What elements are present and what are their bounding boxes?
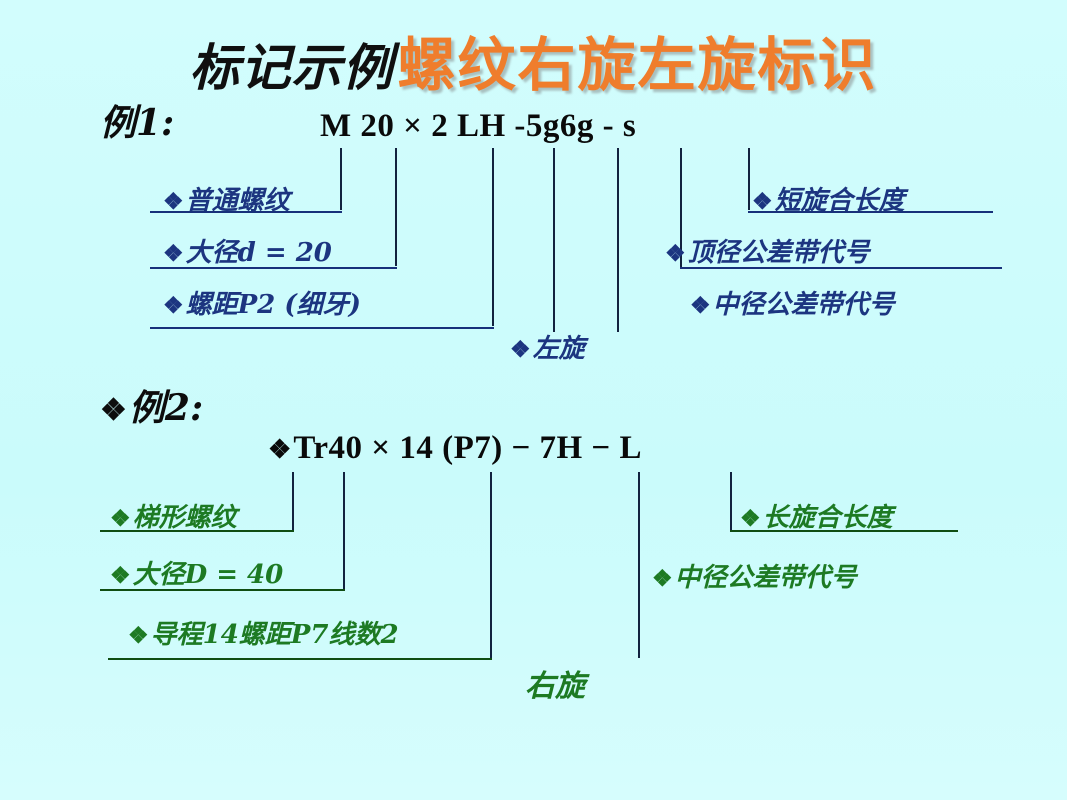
example1-designation: M 20 × 2 LH -5g6g - s — [320, 110, 636, 143]
slide-canvas: 标记示例螺纹右旋左旋标识 例1: M 20 × 2 LH -5g6g - s ❖… — [0, 0, 1067, 800]
leader-line-e2-3 — [490, 472, 492, 658]
leader-line-e2-2 — [343, 472, 345, 589]
slide-title: 标记示例螺纹右旋左旋标识 — [0, 18, 1067, 102]
annotation-e2-right-2: ❖中径公差带代号 — [652, 562, 887, 595]
leader-line-e1-7 — [748, 148, 750, 210]
annotation-e2-right-1: ❖长旋合长度 — [740, 505, 893, 531]
title-prefix: 标记示例 — [189, 38, 393, 97]
diamond-bullet-icon: ❖ — [128, 622, 149, 649]
annotation-e2-right-1-label: 长旋合长度 — [763, 503, 893, 533]
leader-line-e1-3 — [492, 148, 494, 326]
diamond-bullet-icon: ❖ — [110, 505, 131, 532]
diamond-bullet-icon: ❖ — [740, 505, 761, 532]
underline-e2-left-3 — [108, 658, 492, 660]
underline-e2-left-2 — [100, 589, 345, 591]
annotation-e2-left-1: ❖梯形螺纹 — [110, 505, 237, 531]
example2-label-text: 例2: — [129, 387, 203, 429]
title-main: 螺纹右旋左旋标识 — [397, 31, 877, 99]
diamond-bullet-icon: ❖ — [163, 292, 184, 319]
underline-e2-right-1 — [730, 530, 958, 532]
underline-e1-left-1 — [150, 211, 342, 213]
diamond-bullet-icon: ❖ — [163, 240, 184, 267]
leader-line-e1-5 — [617, 148, 619, 332]
annotation-e1-right-2: ❖顶径公差带代号 — [665, 240, 870, 266]
leader-line-e1-4 — [553, 148, 555, 332]
leader-line-e2-1 — [292, 472, 294, 530]
example2-designation-text: Tr40 × 14 (P7) − 7H − L — [293, 430, 642, 466]
diamond-bullet-icon: ❖ — [110, 562, 131, 589]
leader-line-e1-2 — [395, 148, 397, 266]
annotation-e1-right-3-label: 中径公差带代号 — [713, 290, 895, 320]
underline-e1-right-1 — [748, 211, 993, 213]
diamond-bullet-icon: ❖ — [268, 435, 291, 464]
annotation-e1-left-3-label: 螺距P2 (细牙) — [186, 290, 361, 320]
leader-line-e2-4 — [638, 472, 640, 658]
example2-designation: ❖Tr40 × 14 (P7) − 7H − L — [268, 432, 642, 465]
leader-line-e2-5 — [730, 472, 732, 530]
annotation-e2-bottom: 右旋 — [525, 672, 585, 702]
diamond-bullet-icon: ❖ — [690, 292, 711, 319]
annotation-e2-left-2-label: 大径D = 40 — [133, 560, 284, 590]
annotation-e2-left-3-label: 导程14螺距P7线数2 — [151, 620, 399, 650]
underline-e1-left-3 — [150, 327, 494, 329]
annotation-e1-left-2: ❖大径d = 20 — [163, 240, 332, 266]
leader-line-e1-1 — [340, 148, 342, 210]
diamond-bullet-icon: ❖ — [510, 336, 531, 363]
annotation-e1-right-3: ❖中径公差带代号 — [690, 292, 895, 318]
diamond-bullet-icon: ❖ — [665, 240, 686, 267]
underline-e1-left-2 — [150, 267, 397, 269]
underline-e1-right-2 — [680, 267, 1002, 269]
annotation-e2-left-3: ❖导程14螺距P7线数2 — [128, 622, 399, 648]
annotation-e2-left-1-label: 梯形螺纹 — [133, 503, 237, 533]
annotation-e1-right-2-label: 顶径公差带代号 — [688, 238, 870, 268]
example1-label: 例1: — [100, 105, 174, 141]
annotation-e1-left-2-label: 大径d = 20 — [186, 238, 332, 268]
underline-e2-left-1 — [100, 530, 294, 532]
annotation-e2-left-2: ❖大径D = 40 — [110, 562, 283, 588]
example2-label: ❖例2: — [100, 390, 203, 426]
annotation-e1-left-3: ❖螺距P2 (细牙) — [163, 292, 361, 318]
diamond-bullet-icon: ❖ — [652, 565, 673, 592]
annotation-e1-center-label: 左旋 — [533, 334, 585, 364]
annotation-e2-right-2-label: 中径公差带代号 — [675, 563, 857, 593]
annotation-e1-center: ❖左旋 — [510, 336, 585, 362]
diamond-bullet-icon: ❖ — [100, 393, 127, 428]
